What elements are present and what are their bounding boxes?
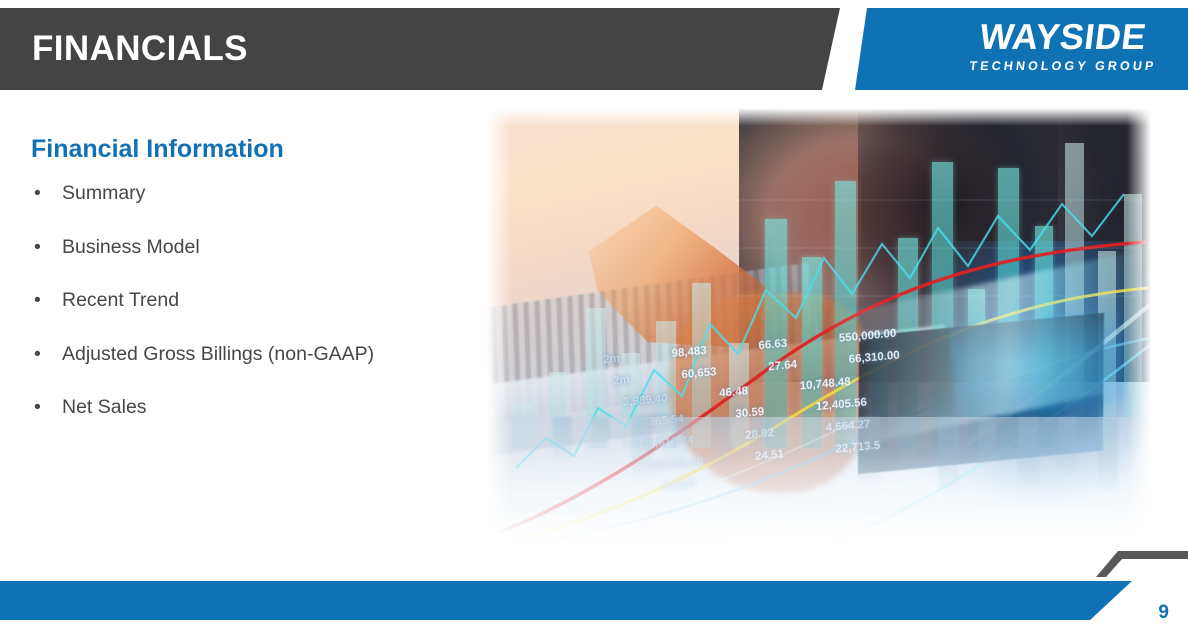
list-item: • Recent Trend — [31, 287, 471, 313]
photo-reflection-bar — [592, 417, 609, 451]
bullet-icon: • — [34, 394, 41, 420]
photo-reflection-bar — [672, 417, 689, 457]
list-item-label: Business Model — [62, 236, 200, 258]
photo-reflection-bar — [1018, 417, 1039, 486]
page-number: 9 — [1158, 601, 1169, 625]
photo-number-cell: 98,483 — [671, 345, 707, 360]
photo-number-cell: 3,989.40 — [622, 393, 667, 409]
brand-tagline: TECHNOLOGY GROUP — [942, 57, 1184, 75]
photo-reflection-bar — [898, 417, 918, 470]
photo-number-cell: 2m — [603, 353, 620, 367]
photo-reflection-bar — [712, 417, 732, 467]
list-item-label: Adjusted Gross Billings (non-GAAP) — [62, 343, 374, 365]
footer-chevron-icon — [1078, 547, 1188, 581]
photo-desk-reflection — [486, 417, 1151, 550]
slide-canvas: FINANCIALS WAYSIDE TECHNOLOGY GROUP Fina… — [0, 0, 1188, 635]
photo-reflection-bar — [752, 417, 771, 454]
section-heading: Financial Information — [31, 133, 284, 165]
photo-reflection-bar — [553, 417, 573, 462]
photo-reflection-bar — [938, 417, 959, 494]
photo-reflection-bar — [632, 417, 652, 475]
brand-logo-inner: WAYSIDE TECHNOLOGY GROUP — [943, 18, 1183, 75]
photo-reflection-bar — [858, 417, 879, 483]
list-item: • Business Model — [31, 234, 471, 260]
brand-logo-block: WAYSIDE TECHNOLOGY GROUP — [855, 8, 1188, 90]
bullet-icon: • — [34, 287, 41, 313]
photo-reflection-bar — [978, 417, 995, 462]
photo-reflection-bar — [1058, 417, 1077, 473]
list-item-label: Net Sales — [62, 396, 147, 418]
photo-number-cell: 46.48 — [719, 385, 748, 400]
bullet-icon: • — [34, 341, 41, 367]
photo-number-cell: 60,653 — [681, 366, 717, 381]
brand-wordmark: WAYSIDE — [941, 18, 1186, 56]
financial-topic-list: • Summary • Business Model • Recent Tren… — [31, 180, 471, 448]
slide-footer-bar — [0, 581, 1132, 620]
photo-number-cell: 2m — [613, 374, 630, 388]
list-item: • Adjusted Gross Billings (non-GAAP) — [31, 341, 471, 367]
bullet-icon: • — [34, 180, 41, 206]
photo-reflection-bar — [1098, 417, 1118, 491]
list-item-label: Summary — [62, 182, 145, 204]
list-item-label: Recent Trend — [62, 289, 179, 311]
photo-number-cell: 27.64 — [768, 359, 797, 374]
list-item: • Net Sales — [31, 394, 471, 420]
photo-number-cell: 66.63 — [758, 338, 787, 353]
bullet-icon: • — [34, 234, 41, 260]
financial-data-composite-photo: 2m98,48366.63550,000.002m60,65327.6466,3… — [486, 108, 1151, 550]
page-title: FINANCIALS — [32, 27, 248, 71]
list-item: • Summary — [31, 180, 471, 206]
